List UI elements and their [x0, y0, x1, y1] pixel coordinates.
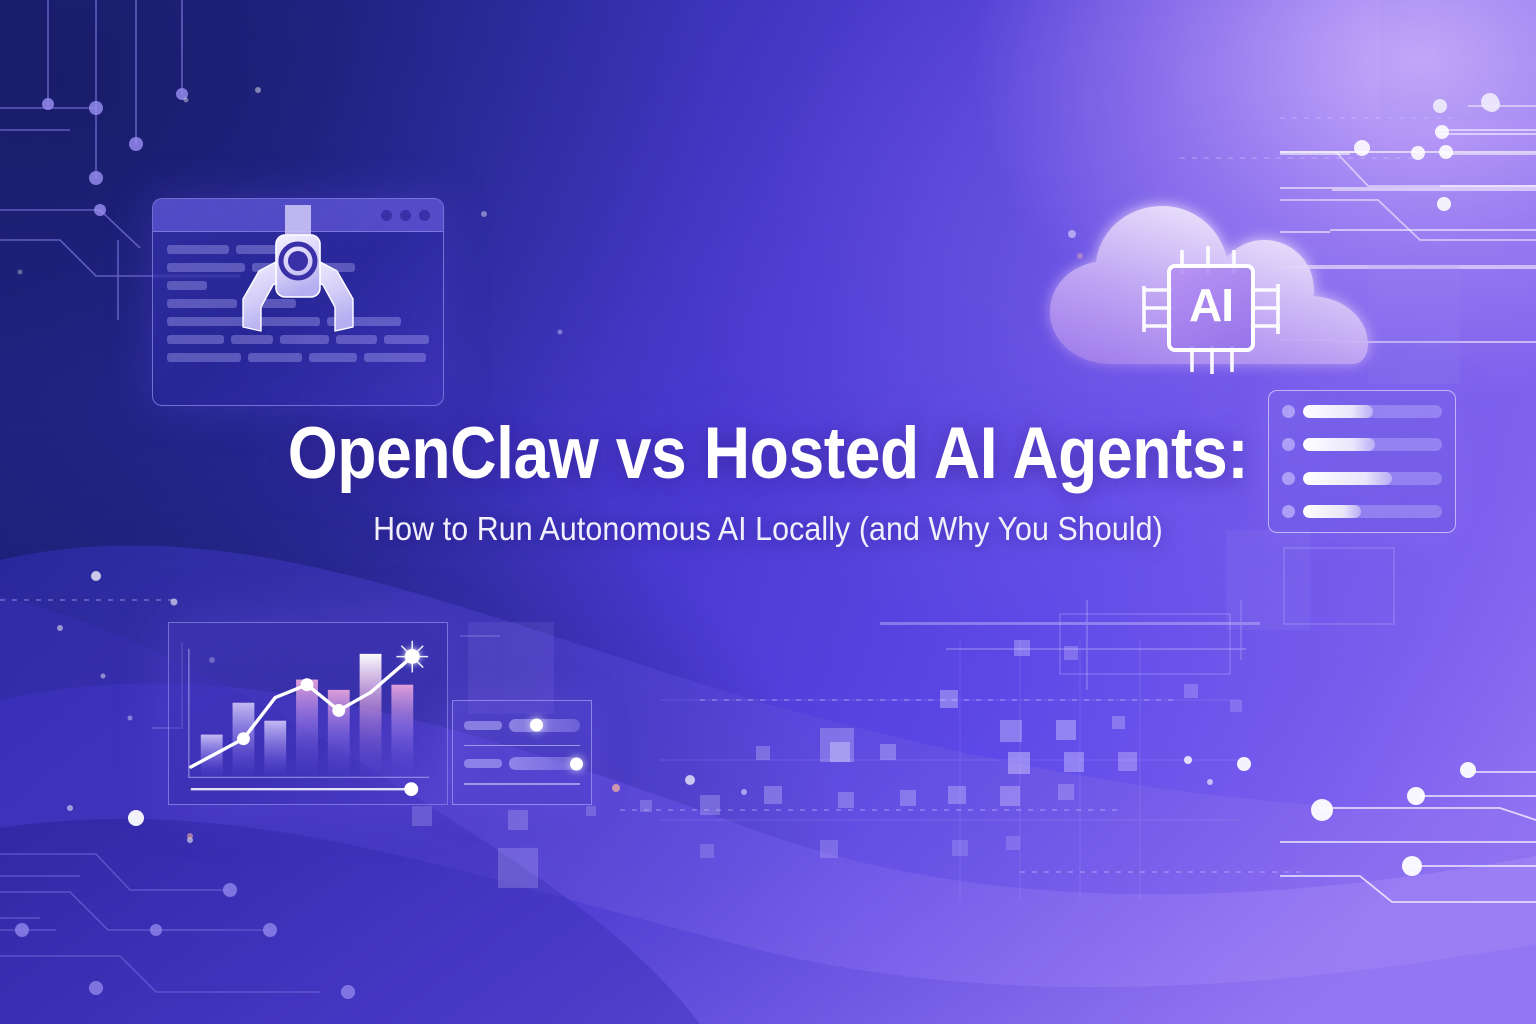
circuit-bend-tr-1 — [1280, 152, 1536, 186]
mosaic-square — [1056, 720, 1076, 740]
glow-dot — [187, 837, 193, 843]
text-line — [384, 335, 429, 344]
ghost-panel — [1380, 0, 1536, 120]
circuit-dot — [1433, 99, 1447, 113]
glow-dot — [57, 625, 63, 631]
title-block: OpenClaw vs Hosted AI Agents: How to Run… — [0, 416, 1536, 548]
circuit-dot — [1311, 799, 1333, 821]
circuit-dot — [1439, 145, 1453, 159]
glow-dot — [128, 810, 144, 826]
glow-dot — [1237, 757, 1251, 771]
mosaic-square — [880, 744, 896, 760]
wave-front — [0, 819, 1536, 1024]
glow-dot — [1207, 779, 1213, 785]
mosaic-square — [1014, 640, 1030, 656]
chart-marker — [301, 678, 314, 691]
chart-bar — [391, 685, 413, 778]
circuit-dot — [1435, 125, 1449, 139]
mosaic-square — [700, 844, 714, 858]
mosaic-square — [1000, 720, 1022, 742]
chart-baseline-marker — [404, 782, 418, 796]
mosaic-square — [952, 840, 968, 856]
circuit-dot — [129, 137, 143, 151]
light-streak — [1086, 600, 1088, 690]
page-title: OpenClaw vs Hosted AI Agents: — [92, 416, 1444, 492]
bar-line-chart — [169, 623, 447, 804]
circuit-dot — [42, 98, 54, 110]
setting-slider-track[interactable] — [509, 757, 580, 770]
ghost-outline — [1284, 548, 1394, 624]
chip-label: AI — [1189, 279, 1233, 331]
window-dot-3[interactable] — [419, 210, 430, 221]
mosaic-square — [900, 790, 916, 806]
mosaic-square — [1112, 716, 1125, 729]
glow-dot — [741, 789, 747, 795]
setting-slider-knob — [530, 719, 543, 732]
setting-divider — [464, 745, 580, 747]
cloud-ai-chip: AI — [1016, 186, 1412, 404]
mosaic-square — [948, 786, 966, 804]
window-dot-2[interactable] — [400, 210, 411, 221]
mosaic-square — [586, 806, 596, 816]
chart-bar — [264, 721, 286, 778]
setting-label — [464, 721, 502, 730]
hero-banner: AI — [0, 0, 1536, 1024]
mosaic-square — [838, 792, 854, 808]
circuit-dot — [89, 981, 103, 995]
mosaic-square — [1006, 836, 1020, 850]
robot-claw-icon — [213, 205, 383, 355]
glow-dot — [101, 674, 106, 679]
circuit-trace-br-6 — [1280, 876, 1536, 902]
circuit-dot — [1407, 787, 1425, 805]
glow-dot — [128, 716, 133, 721]
chart-bars — [201, 654, 413, 777]
setting-row[interactable] — [464, 719, 580, 732]
mosaic-square — [1058, 784, 1074, 800]
circuit-dot — [341, 985, 355, 999]
mosaic-square — [412, 806, 432, 826]
circuit-trace-bl-4 — [0, 956, 320, 992]
circuit-dot — [94, 204, 106, 216]
mosaic-square — [756, 746, 770, 760]
glow-dot — [91, 571, 101, 581]
glow-dot — [171, 599, 178, 606]
glow-dot — [481, 211, 487, 217]
circuit-dot — [89, 171, 103, 185]
mosaic-square — [1230, 700, 1242, 712]
glow-dot — [184, 98, 189, 103]
light-streak — [946, 648, 1246, 650]
mosaic-square — [1000, 786, 1020, 806]
light-streak — [1240, 600, 1242, 660]
settings-card[interactable] — [452, 700, 592, 805]
mosaic-square — [640, 800, 652, 812]
glow-dot — [67, 805, 73, 811]
mosaic-square — [1184, 684, 1198, 698]
setting-divider — [464, 783, 580, 785]
setting-slider-track[interactable] — [509, 719, 580, 732]
circuit-dot — [1460, 762, 1476, 778]
mosaic-square — [1118, 752, 1137, 771]
circuit-trace-br-3 — [1318, 808, 1536, 820]
ghost-outline — [1060, 614, 1230, 674]
page-subtitle: How to Run Autonomous AI Locally (and Wh… — [61, 510, 1474, 548]
light-streak — [880, 622, 1260, 625]
circuit-trace-tl-7 — [0, 210, 140, 248]
robot-eye-pupil — [288, 251, 308, 271]
chart-panel[interactable] — [168, 622, 448, 805]
circuit-dot — [263, 923, 277, 937]
mosaic-square — [1064, 646, 1078, 660]
circuit-trace-bl-1 — [0, 854, 230, 890]
glow-dot — [1184, 756, 1192, 764]
circuit-dot — [176, 88, 188, 100]
mosaic-square — [508, 810, 528, 830]
setting-row[interactable] — [464, 757, 580, 770]
mosaic-square — [700, 795, 720, 815]
circuit-trace-bl-2 — [0, 892, 270, 930]
circuit-dot — [150, 924, 162, 936]
mosaic-square — [1064, 752, 1084, 772]
mosaic-square — [940, 690, 958, 708]
glow-dot — [255, 87, 261, 93]
chart-marker — [332, 704, 345, 717]
chart-marker — [237, 732, 250, 745]
circuit-dot — [1484, 96, 1500, 112]
circuit-dot — [1354, 140, 1370, 156]
text-line — [167, 281, 207, 290]
circuit-dot — [89, 101, 103, 115]
setting-slider-knob — [570, 757, 583, 770]
circuit-dot — [223, 883, 237, 897]
mosaic-square — [820, 840, 838, 858]
chart-bar — [296, 680, 318, 778]
window-dots — [381, 210, 430, 221]
browser-window[interactable] — [152, 198, 444, 406]
warm-glow-dot — [187, 833, 193, 839]
mosaic-square — [820, 728, 854, 762]
warm-glow-dot — [612, 784, 620, 792]
glow-dot — [685, 775, 695, 785]
circuit-dot — [15, 923, 29, 937]
circuit-dot — [1402, 856, 1422, 876]
setting-label — [464, 759, 502, 768]
mosaic-square — [764, 786, 782, 804]
glow-dot — [558, 330, 563, 335]
circuit-dot — [1437, 197, 1451, 211]
mosaic-square — [1008, 752, 1030, 774]
chart-baseline — [191, 782, 418, 796]
glow-dot — [18, 270, 23, 275]
circuit-dot — [1411, 146, 1425, 160]
chart-bar — [360, 654, 382, 777]
mosaic-square — [498, 848, 538, 888]
circuit-dot — [1481, 93, 1499, 111]
mosaic-square — [830, 742, 850, 762]
